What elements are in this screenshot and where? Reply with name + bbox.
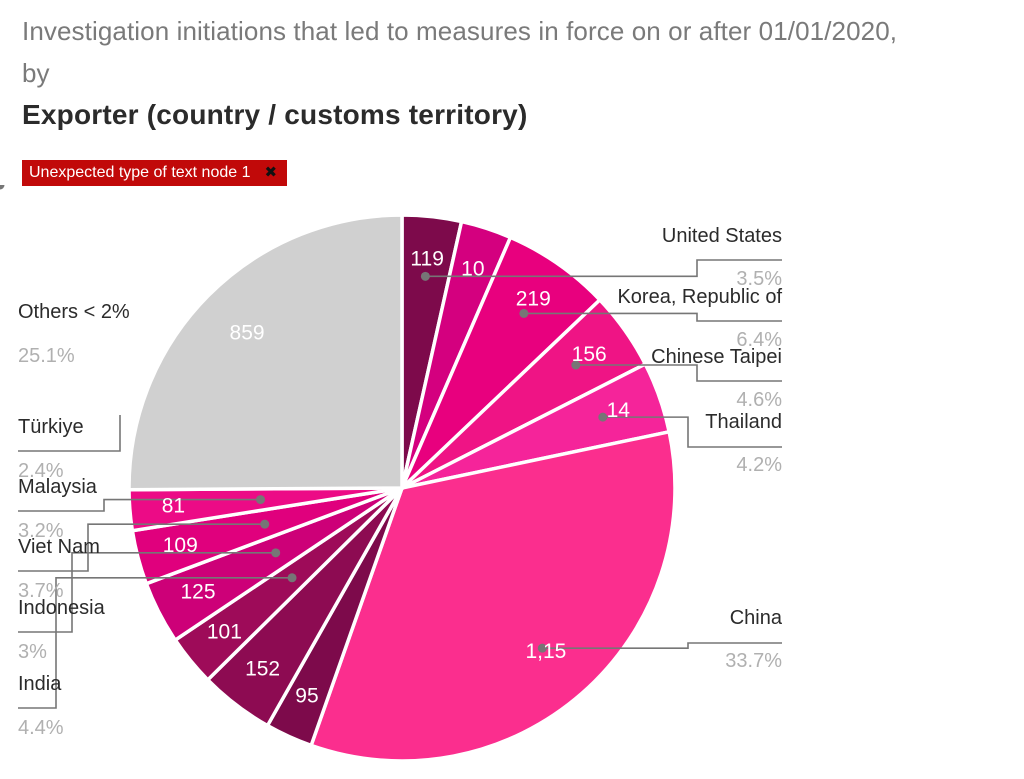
slice-value-label: 109	[163, 534, 198, 557]
leader-dot	[0, 185, 5, 190]
callout-category-name: Malaysia	[18, 476, 98, 498]
callout-percentage: 33.7%	[725, 650, 782, 672]
slice-value-label: 859	[230, 322, 265, 345]
callout-percentage: 4.2%	[736, 454, 782, 476]
title-line-2: by	[22, 52, 1022, 94]
chart-page: Investigation initiations that led to me…	[0, 0, 1024, 779]
callout-category-name: Chinese Taipei	[651, 346, 782, 368]
slice-value-label: 95	[295, 684, 318, 707]
callout-category-name: Viet Nam	[18, 536, 100, 558]
slice-value-label: 81	[162, 494, 185, 517]
slice-value-label: 10	[461, 257, 484, 280]
slice-value-label: 119	[410, 248, 443, 271]
slice-value-label: 14	[607, 399, 631, 422]
pie-chart-svg: 11910219156141,159515210112510981859 Uni…	[0, 185, 1024, 779]
slice-value-label: 125	[180, 580, 215, 603]
pie-chart: 11910219156141,159515210112510981859 Uni…	[0, 185, 1024, 779]
callout-category-name: Thailand	[705, 411, 782, 433]
callout-percentage: 25.1%	[18, 345, 75, 367]
callout-category-name: Korea, Republic of	[617, 286, 782, 308]
title-dimension: Exporter (country / customs territory)	[22, 96, 1022, 134]
slice-value-label: 219	[516, 288, 551, 311]
callout-percentage: 4.4%	[18, 717, 64, 739]
pie-slice[interactable]	[129, 215, 402, 490]
slice-value-label: 156	[572, 343, 607, 366]
callout-category-name: Türkiye	[18, 416, 84, 438]
callout-category-name: Indonesia	[18, 597, 106, 619]
close-icon[interactable]: ✖	[264, 160, 277, 186]
callout-category-name: China	[730, 607, 783, 629]
title-line-1: Investigation initiations that led to me…	[22, 10, 1022, 52]
callout-percentage: 3%	[18, 641, 47, 663]
slice-value-label: 1,15	[525, 640, 566, 663]
callout-percentage: 4.6%	[736, 389, 782, 411]
pie-slices	[129, 215, 675, 761]
page-title: Investigation initiations that led to me…	[22, 10, 1022, 134]
callout-category-name: United States	[662, 225, 782, 247]
error-banner: Unexpected type of text node 1 ✖	[22, 160, 287, 186]
callout-category-name: Others < 2%	[18, 301, 130, 323]
callout-category-name: India	[18, 673, 62, 695]
slice-value-label: 152	[245, 658, 280, 681]
error-banner-message: Unexpected type of text node 1	[29, 160, 250, 186]
slice-value-label: 101	[207, 621, 242, 644]
